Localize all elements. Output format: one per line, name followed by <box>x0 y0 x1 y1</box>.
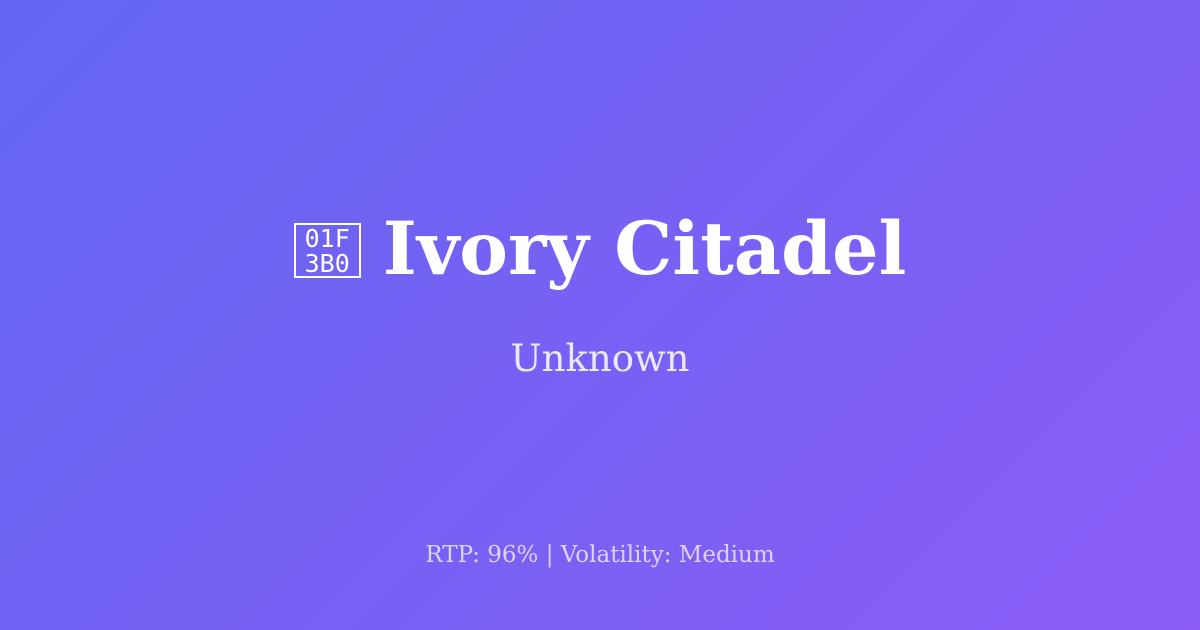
card-hero: 01F 3B0 Ivory Citadel Unknown <box>0 0 1200 630</box>
card-subtitle: Unknown <box>510 339 689 379</box>
game-preview-card: 01F 3B0 Ivory Citadel Unknown RTP: 96% |… <box>0 0 1200 630</box>
footer-meta-text: RTP: 96% | Volatility: Medium <box>425 542 774 568</box>
page-title: Ivory Citadel <box>383 213 907 286</box>
tofu-codepoint-bottom: 3B0 <box>305 251 350 276</box>
tofu-codepoint-top: 01F <box>305 226 350 251</box>
slot-machine-icon: 01F 3B0 <box>294 223 361 278</box>
title-row: 01F 3B0 Ivory Citadel <box>294 205 907 297</box>
card-footer-meta: RTP: 96% | Volatility: Medium <box>0 542 1200 568</box>
